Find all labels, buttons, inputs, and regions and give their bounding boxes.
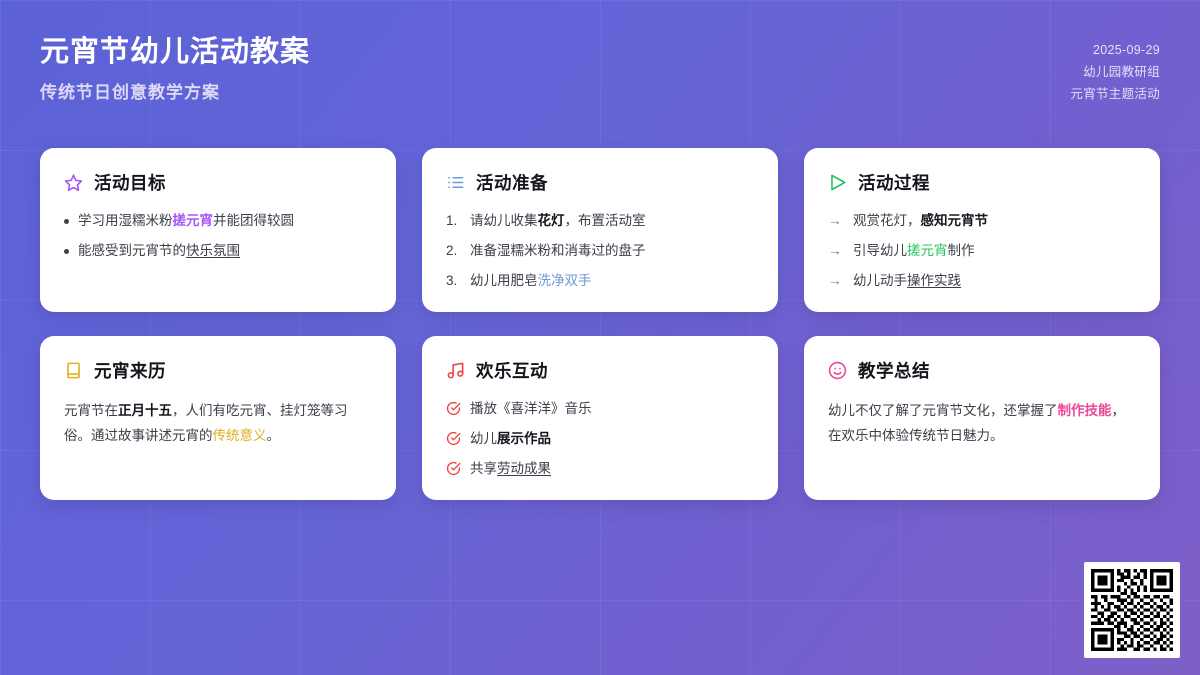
card-list: 学习用湿糯米粉搓元宵并能团得较圆能感受到元宵节的快乐氛围 bbox=[64, 211, 372, 262]
check-circle-icon bbox=[446, 461, 461, 476]
star-icon bbox=[64, 173, 83, 192]
meta-topic: 元宵节主题活动 bbox=[1070, 84, 1160, 106]
page-subtitle: 传统节日创意教学方案 bbox=[40, 78, 310, 103]
card-body: →观赏花灯，感知元宵节→引导幼儿搓元宵制作→幼儿动手操作实践 bbox=[828, 211, 1136, 292]
card-title: 活动准备 bbox=[476, 170, 548, 195]
bullet-dot-icon bbox=[64, 219, 69, 224]
list-item: 幼儿展示作品 bbox=[446, 429, 754, 450]
list-item-text: 引导幼儿搓元宵制作 bbox=[853, 241, 975, 262]
list-item: →幼儿动手操作实践 bbox=[828, 271, 1136, 292]
card-header: 活动目标 bbox=[64, 170, 372, 195]
list-item: 3.幼儿用肥皂洗净双手 bbox=[446, 271, 754, 292]
qr-code-canvas bbox=[1091, 569, 1173, 651]
text-segment: 元宵节在 bbox=[64, 403, 118, 418]
text-segment: 并能团得较圆 bbox=[213, 213, 294, 228]
text-segment: ，布置活动室 bbox=[565, 213, 646, 228]
card-joyful-interaction[interactable]: 欢乐互动播放《喜洋洋》音乐幼儿展示作品共享劳动成果 bbox=[422, 336, 778, 500]
check-circle-icon bbox=[446, 431, 461, 446]
list-item: →引导幼儿搓元宵制作 bbox=[828, 241, 1136, 262]
list-item: 能感受到元宵节的快乐氛围 bbox=[64, 241, 372, 262]
text-segment: 引导幼儿 bbox=[853, 243, 907, 258]
text-segment: 正月十五 bbox=[118, 403, 172, 418]
card-body: 元宵节在正月十五，人们有吃元宵、挂灯笼等习俗。通过故事讲述元宵的传统意义。 bbox=[64, 399, 372, 449]
list-item: 2.准备湿糯米粉和消毒过的盘子 bbox=[446, 241, 754, 262]
page-title: 元宵节幼儿活动教案 bbox=[40, 34, 310, 72]
list-item-text: 请幼儿收集花灯，布置活动室 bbox=[470, 211, 646, 232]
list-item-text: 幼儿动手操作实践 bbox=[853, 271, 961, 292]
list-item: 学习用湿糯米粉搓元宵并能团得较圆 bbox=[64, 211, 372, 232]
text-segment: 准备湿糯米粉和消毒过的盘子 bbox=[470, 243, 646, 258]
card-body: 1.请幼儿收集花灯，布置活动室2.准备湿糯米粉和消毒过的盘子3.幼儿用肥皂洗净双… bbox=[446, 211, 754, 292]
list-item-text: 能感受到元宵节的快乐氛围 bbox=[78, 241, 240, 262]
list-item-text: 观赏花灯，感知元宵节 bbox=[853, 211, 988, 232]
list-item-text: 准备湿糯米粉和消毒过的盘子 bbox=[470, 241, 646, 262]
list-number: 1. bbox=[446, 211, 461, 232]
text-segment: 共享 bbox=[470, 461, 497, 476]
meta-date: 2025-09-29 bbox=[1070, 40, 1160, 62]
check-circle-icon bbox=[446, 401, 461, 416]
text-segment: 播放《喜洋洋》音乐 bbox=[470, 401, 592, 416]
text-segment: 幼儿用肥皂 bbox=[470, 273, 538, 288]
arrow-right-icon: → bbox=[828, 211, 844, 232]
paragraph-text: 元宵节在正月十五，人们有吃元宵、挂灯笼等习俗。通过故事讲述元宵的传统意义。 bbox=[64, 399, 372, 449]
card-title: 活动过程 bbox=[858, 170, 930, 195]
list-icon bbox=[446, 173, 465, 192]
card-body: 幼儿不仅了解了元宵节文化，还掌握了制作技能，在欢乐中体验传统节日魅力。 bbox=[828, 399, 1136, 449]
card-list: →观赏花灯，感知元宵节→引导幼儿搓元宵制作→幼儿动手操作实践 bbox=[828, 211, 1136, 292]
list-item-text: 共享劳动成果 bbox=[470, 459, 551, 480]
play-icon bbox=[828, 173, 847, 192]
text-segment: 搓元宵 bbox=[173, 213, 214, 228]
meta-organization: 幼儿园教研组 bbox=[1070, 62, 1160, 84]
book-icon bbox=[64, 361, 83, 380]
card-title: 元宵来历 bbox=[94, 358, 166, 383]
text-segment: 快乐氛围 bbox=[186, 243, 240, 258]
card-list: 1.请幼儿收集花灯，布置活动室2.准备湿糯米粉和消毒过的盘子3.幼儿用肥皂洗净双… bbox=[446, 211, 754, 292]
card-header: 活动准备 bbox=[446, 170, 754, 195]
list-item-text: 播放《喜洋洋》音乐 bbox=[470, 399, 592, 420]
text-segment: 操作实践 bbox=[907, 273, 961, 288]
text-segment: 洗净双手 bbox=[538, 273, 592, 288]
text-segment: 搓元宵 bbox=[907, 243, 948, 258]
text-segment: 展示作品 bbox=[497, 431, 551, 446]
list-item-text: 幼儿展示作品 bbox=[470, 429, 551, 450]
text-segment: 花灯 bbox=[538, 213, 565, 228]
card-activity-goals[interactable]: 活动目标学习用湿糯米粉搓元宵并能团得较圆能感受到元宵节的快乐氛围 bbox=[40, 148, 396, 312]
page-header: 元宵节幼儿活动教案 传统节日创意教学方案 2025-09-29 幼儿园教研组 元… bbox=[40, 34, 1160, 106]
card-title: 教学总结 bbox=[858, 358, 930, 383]
card-header: 教学总结 bbox=[828, 358, 1136, 383]
card-list: 播放《喜洋洋》音乐幼儿展示作品共享劳动成果 bbox=[446, 399, 754, 480]
text-segment: 请幼儿收集 bbox=[470, 213, 538, 228]
card-body: 学习用湿糯米粉搓元宵并能团得较圆能感受到元宵节的快乐氛围 bbox=[64, 211, 372, 262]
smiley-icon bbox=[828, 361, 847, 380]
text-segment: 制作技能 bbox=[1058, 403, 1112, 418]
text-segment: 制作 bbox=[948, 243, 975, 258]
list-item: 播放《喜洋洋》音乐 bbox=[446, 399, 754, 420]
card-title: 活动目标 bbox=[94, 170, 166, 195]
card-body: 播放《喜洋洋》音乐幼儿展示作品共享劳动成果 bbox=[446, 399, 754, 480]
music-note-icon bbox=[446, 361, 465, 380]
text-segment: 观赏花灯， bbox=[853, 213, 921, 228]
text-segment: 感知元宵节 bbox=[921, 213, 989, 228]
arrow-right-icon: → bbox=[828, 241, 844, 262]
list-number: 2. bbox=[446, 241, 461, 262]
list-item: 共享劳动成果 bbox=[446, 459, 754, 480]
card-header: 元宵来历 bbox=[64, 358, 372, 383]
card-title: 欢乐互动 bbox=[476, 358, 548, 383]
list-item-text: 学习用湿糯米粉搓元宵并能团得较圆 bbox=[78, 211, 294, 232]
arrow-right-icon: → bbox=[828, 271, 844, 292]
list-item: →观赏花灯，感知元宵节 bbox=[828, 211, 1136, 232]
text-segment: 学习用湿糯米粉 bbox=[78, 213, 173, 228]
qr-code[interactable] bbox=[1084, 562, 1180, 658]
list-item: 1.请幼儿收集花灯，布置活动室 bbox=[446, 211, 754, 232]
card-header: 活动过程 bbox=[828, 170, 1136, 195]
card-header: 欢乐互动 bbox=[446, 358, 754, 383]
card-grid: 活动目标学习用湿糯米粉搓元宵并能团得较圆能感受到元宵节的快乐氛围活动准备1.请幼… bbox=[40, 148, 1160, 500]
list-number: 3. bbox=[446, 271, 461, 292]
text-segment: 劳动成果 bbox=[497, 461, 551, 476]
card-activity-preparation[interactable]: 活动准备1.请幼儿收集花灯，布置活动室2.准备湿糯米粉和消毒过的盘子3.幼儿用肥… bbox=[422, 148, 778, 312]
card-teaching-summary[interactable]: 教学总结幼儿不仅了解了元宵节文化，还掌握了制作技能，在欢乐中体验传统节日魅力。 bbox=[804, 336, 1160, 500]
list-item-text: 幼儿用肥皂洗净双手 bbox=[470, 271, 592, 292]
title-block: 元宵节幼儿活动教案 传统节日创意教学方案 bbox=[40, 34, 310, 103]
text-segment: 能感受到元宵节的 bbox=[78, 243, 186, 258]
text-segment: 幼儿动手 bbox=[853, 273, 907, 288]
text-segment: 。 bbox=[267, 428, 281, 443]
paragraph-text: 幼儿不仅了解了元宵节文化，还掌握了制作技能，在欢乐中体验传统节日魅力。 bbox=[828, 399, 1136, 449]
text-segment: 幼儿 bbox=[470, 431, 497, 446]
bullet-dot-icon bbox=[64, 249, 69, 254]
card-activity-process[interactable]: 活动过程→观赏花灯，感知元宵节→引导幼儿搓元宵制作→幼儿动手操作实践 bbox=[804, 148, 1160, 312]
card-origin-of-yuanxiao[interactable]: 元宵来历元宵节在正月十五，人们有吃元宵、挂灯笼等习俗。通过故事讲述元宵的传统意义… bbox=[40, 336, 396, 500]
header-meta: 2025-09-29 幼儿园教研组 元宵节主题活动 bbox=[1070, 34, 1160, 106]
text-segment: 幼儿不仅了解了元宵节文化，还掌握了 bbox=[828, 403, 1058, 418]
text-segment: 传统意义 bbox=[213, 428, 267, 443]
